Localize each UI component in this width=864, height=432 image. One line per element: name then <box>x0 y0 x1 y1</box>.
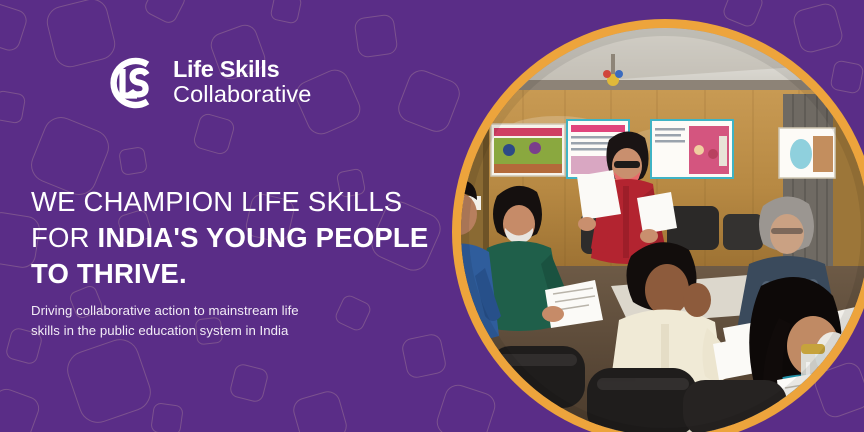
headline-line-1: WE CHAMPION LIFE SKILLS <box>31 184 428 220</box>
brand-wordmark: Life Skills Collaborative <box>173 58 311 109</box>
headline-line-3: TO THRIVE. <box>31 256 428 292</box>
headline-line-1-text: WE CHAMPION LIFE SKILLS <box>31 186 402 217</box>
hero-photo-ring: Workshop participants seated around a ta… <box>452 19 864 432</box>
headline-line-2: FOR INDIA'S YOUNG PEOPLE <box>31 220 428 256</box>
pattern-square <box>791 1 845 55</box>
pattern-square <box>433 381 499 432</box>
headline: WE CHAMPION LIFE SKILLS FOR INDIA'S YOUN… <box>31 184 428 292</box>
pattern-square <box>829 59 864 94</box>
promotional-banner: Workshop participants seated around a ta… <box>0 0 864 432</box>
subtitle-line-1: Driving collaborative action to mainstre… <box>31 301 361 321</box>
brand-logo[interactable]: Life Skills Collaborative <box>100 52 311 114</box>
lsc-monogram-logo-icon <box>100 52 162 114</box>
headline-line-2-bold: INDIA'S YOUNG PEOPLE <box>98 222 429 253</box>
hero-photo: Workshop participants seated around a ta… <box>461 28 864 432</box>
pattern-square <box>721 0 765 29</box>
subtitle: Driving collaborative action to mainstre… <box>31 301 361 340</box>
headline-line-3-bold: TO THRIVE. <box>31 258 187 289</box>
banner-content: Life Skills Collaborative WE CHAMPION LI… <box>0 0 420 432</box>
headline-line-2-light: FOR <box>31 222 98 253</box>
brand-name-line2: Collaborative <box>173 83 311 107</box>
brand-name-line1: Life Skills <box>173 58 311 82</box>
subtitle-line-2: skills in the public education system in… <box>31 321 361 341</box>
